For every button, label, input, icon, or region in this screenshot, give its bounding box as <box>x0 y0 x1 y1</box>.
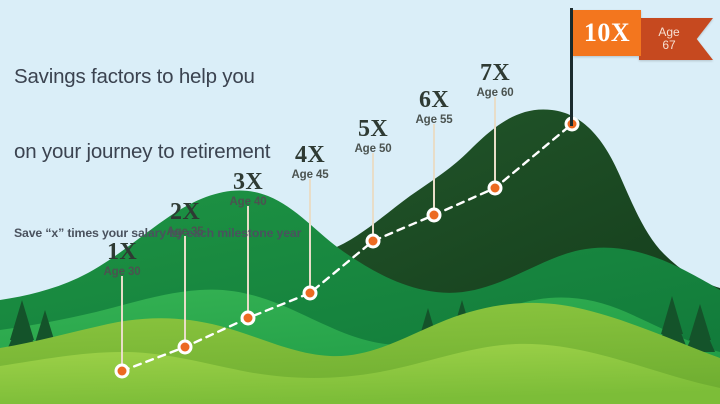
milestone-dot-icon[interactable] <box>366 234 381 249</box>
milestone-stem <box>121 276 123 371</box>
milestone-age: Age 55 <box>415 113 452 127</box>
milestone-label-5x[interactable]: 5X Age 50 <box>354 117 391 156</box>
flag-age-number: 67 <box>662 39 675 53</box>
milestone-label-7x[interactable]: 7X Age 60 <box>476 61 513 100</box>
flag-factor-label: 10X <box>573 10 641 56</box>
page-title: Savings factors to help you on your jour… <box>14 14 301 214</box>
flag-age-word: Age <box>658 26 679 40</box>
milestone-dot-icon[interactable] <box>241 311 256 326</box>
milestone-factor: 6X <box>415 88 452 112</box>
header-block: Savings factors to help you on your jour… <box>14 14 301 240</box>
milestone-label-1x[interactable]: 1X Age 30 <box>103 240 140 279</box>
title-line-2: on your journey to retirement <box>14 139 301 164</box>
milestone-age: Age 50 <box>354 142 391 156</box>
milestone-dot-icon[interactable] <box>488 181 503 196</box>
summit-flag-icon[interactable]: 10X Age 67 <box>573 10 713 60</box>
milestone-factor: 5X <box>354 117 391 141</box>
milestone-stem <box>494 97 496 188</box>
milestone-stem <box>184 236 186 347</box>
milestone-age: Age 30 <box>103 265 140 279</box>
milestone-stem <box>433 124 435 215</box>
milestone-label-6x[interactable]: 6X Age 55 <box>415 88 452 127</box>
milestone-dot-icon[interactable] <box>303 286 318 301</box>
milestone-stem <box>309 179 311 293</box>
milestone-dot-icon[interactable] <box>427 208 442 223</box>
milestone-age: Age 60 <box>476 86 513 100</box>
milestone-factor: 1X <box>103 240 140 264</box>
milestone-stem <box>372 153 374 241</box>
infographic-canvas: Savings factors to help you on your jour… <box>0 0 720 404</box>
page-subtitle: Save “x” times your salary by each miles… <box>14 226 301 240</box>
flag-age-banner: Age 67 <box>639 18 713 60</box>
milestone-dot-icon[interactable] <box>178 340 193 355</box>
title-line-1: Savings factors to help you <box>14 64 301 89</box>
milestone-factor: 7X <box>476 61 513 85</box>
milestone-dot-icon[interactable] <box>115 364 130 379</box>
